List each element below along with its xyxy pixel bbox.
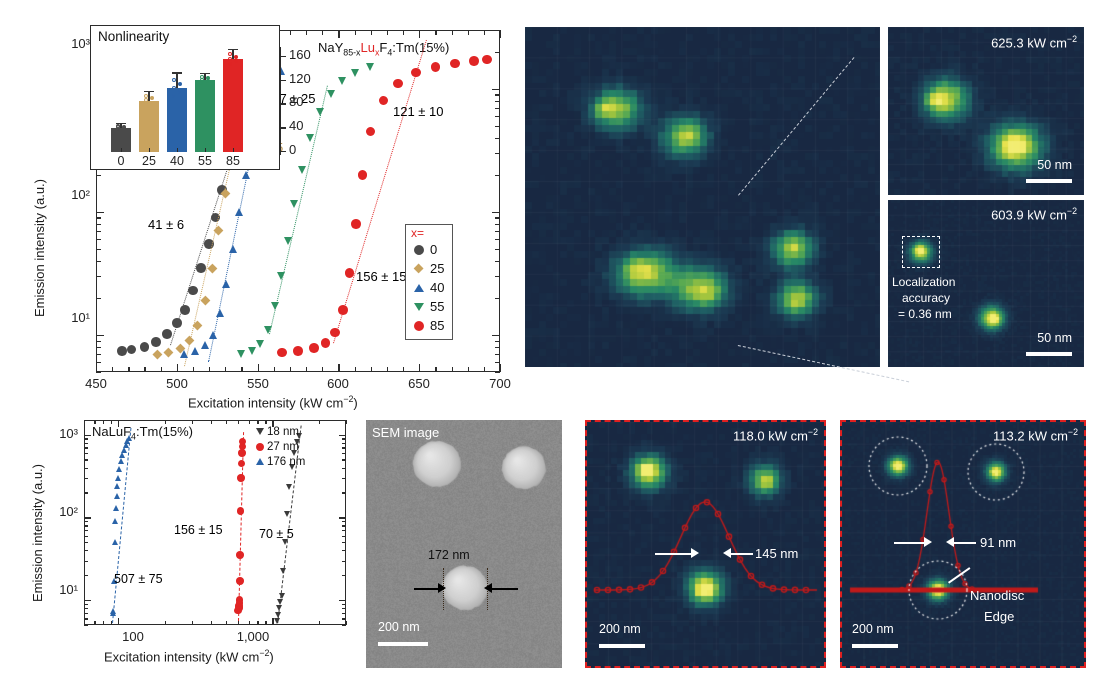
- panel-main-power-dependence: NaY85-xLuxF4:Tm(15%) Emission intensity …: [18, 12, 518, 402]
- annotation-slope-x55: 121 ± 10: [393, 104, 444, 119]
- legend-symbol-circle-icon: [411, 316, 427, 335]
- scatter-point: [150, 96, 154, 100]
- main-marker-x-55: [366, 63, 374, 71]
- panel-profile-113: 113.2 kW cm−2 91 nm Nanodisc Edge 200 nm: [840, 420, 1086, 668]
- inset-xtick-mark: [121, 148, 122, 152]
- bottom-ytick-mark: [84, 625, 88, 626]
- inset-ytick-120: 120: [289, 71, 311, 86]
- inset-title: Nonlinearity: [98, 29, 169, 44]
- main-marker-x-55: [248, 347, 256, 355]
- sem-scalebar-label: 200 nm: [378, 620, 420, 634]
- main-marker-x-55: [290, 200, 298, 208]
- main-marker-x-85: [393, 79, 403, 89]
- profile-a-power-label: 118.0 kW cm−2: [733, 427, 818, 443]
- bottom-legend-item-27-nm[interactable]: 27 nm: [253, 439, 305, 454]
- bar-55: [195, 80, 215, 152]
- main-xtick-mark-top: [500, 30, 501, 38]
- profile-b-fwhm-label: 91 nm: [980, 535, 1016, 550]
- profile-a-arrow-right: [731, 553, 753, 555]
- panel-zoom-625: 625.3 kW cm−2 50 nm: [888, 27, 1084, 195]
- main-marker-x-85: [309, 343, 319, 353]
- scatter-point: [228, 62, 232, 66]
- sem-scalebar: [378, 642, 428, 646]
- scatter-point: [172, 78, 176, 82]
- sem-arrow-left: [414, 588, 440, 590]
- main-ytick-mark-right: [495, 372, 500, 373]
- zoom-bottom-note-line3: = 0.36 nm: [898, 307, 952, 321]
- main-legend: x= 025405585: [405, 224, 453, 340]
- legend-symbol-tri-dn-icon: [411, 297, 427, 316]
- inset-xtick-mark: [149, 148, 150, 152]
- zoom-bottom-localization-box: [902, 236, 940, 268]
- profile-a-arrow-left: [655, 553, 693, 555]
- inset-xtick-mark: [205, 148, 206, 152]
- main-marker-x-85: [366, 127, 376, 137]
- main-marker-x-25: [208, 263, 218, 273]
- legend-marker: [414, 264, 424, 274]
- legend-label: 40: [430, 280, 444, 295]
- zoom-bottom-scalebar: [1026, 352, 1072, 356]
- scatter-point: [116, 124, 120, 128]
- error-cap-40: [172, 72, 182, 73]
- main-marker-x-40: [180, 350, 188, 358]
- sem-size-label: 172 nm: [428, 548, 470, 562]
- main-marker-x-85: [379, 96, 389, 106]
- bottom-legend-symbol-tri-dn-icon: [253, 424, 267, 439]
- legend-label: 85: [430, 318, 444, 333]
- bottom-marker-176-nm: [114, 493, 120, 499]
- main-marker-x-0: [127, 345, 137, 355]
- sr-image-canvas: [525, 27, 880, 367]
- profile-a-arrow-head-right: [723, 548, 731, 558]
- main-marker-x-85: [321, 338, 331, 348]
- zoom-bottom-note-line2: accuracy: [902, 291, 950, 305]
- profile-b-scalebar-label: 200 nm: [852, 622, 894, 636]
- scatter-point: [144, 94, 148, 98]
- inset-ytick-40: 40: [289, 118, 303, 133]
- main-marker-x-40: [201, 341, 209, 349]
- figure-canvas: NaY85-xLuxF4:Tm(15%) Emission intensity …: [0, 0, 1100, 687]
- sem-arrow-head-right: [484, 583, 492, 593]
- bar-40: [167, 88, 187, 152]
- profile-a-scalebar: [599, 644, 645, 648]
- bottom-marker-176-nm: [115, 475, 121, 481]
- annotation-507: 507 ± 75: [114, 572, 163, 586]
- zoom-bottom-note-line1: Localization: [892, 275, 955, 289]
- main-marker-x-55: [351, 69, 359, 77]
- legend-item-x-25[interactable]: 25: [411, 259, 444, 278]
- bar-85: [223, 59, 243, 152]
- bottom-legend-label: 176 nm: [267, 456, 305, 468]
- panel-sem-image: SEM image 172 nm 200 nm: [366, 420, 562, 668]
- legend-symbol-tri-up-icon: [411, 278, 427, 297]
- scatter-point: [228, 52, 232, 56]
- main-xtick-mark: [500, 364, 501, 372]
- error-cap-55: [200, 73, 210, 74]
- main-marker-x-55: [256, 340, 264, 348]
- legend-label: 55: [430, 299, 444, 314]
- legend-symbol-circle-icon: [411, 240, 427, 259]
- main-marker-x-85: [293, 346, 303, 356]
- main-marker-x-0: [151, 337, 161, 347]
- bottom-marker-176-nm: [112, 518, 118, 524]
- zoom-bottom-power-label: 603.9 kW cm−2: [991, 206, 1077, 222]
- scatter-point: [172, 86, 176, 90]
- legend-label: 0: [430, 242, 437, 257]
- bar-25: [139, 101, 159, 152]
- panel-zoom-603: 603.9 kW cm−2 Localization accuracy = 0.…: [888, 200, 1084, 367]
- bottom-marker-176-nm: [118, 458, 124, 464]
- profile-b-note-line1: Nanodisc: [970, 588, 1024, 603]
- bottom-marker-176-nm: [112, 539, 118, 545]
- sem-title: SEM image: [372, 425, 439, 440]
- sem-arrow-head-left: [438, 583, 446, 593]
- bottom-legend-item-18-nm[interactable]: 18 nm: [253, 424, 305, 439]
- legend-label: 25: [430, 261, 444, 276]
- bottom-marker-176-nm: [113, 505, 119, 511]
- legend-item-x-40[interactable]: 40: [411, 278, 444, 297]
- panel-nalufs-size-dependence: NaLuF4:Tm(15%) Emission intensity (a.u.)…: [18, 412, 358, 677]
- main-marker-x-85: [482, 55, 492, 65]
- bottom-xtick-mark: [346, 621, 347, 625]
- annotation-70: 70 ± 5: [259, 527, 294, 541]
- legend-marker: [414, 303, 424, 311]
- bottom-legend-marker: [256, 443, 264, 451]
- bottom-ytick-mark-right: [342, 625, 346, 626]
- legend-item-x-55[interactable]: 55: [411, 297, 444, 316]
- legend-marker: [414, 245, 424, 255]
- main-marker-x-85: [351, 219, 361, 229]
- scatter-point: [228, 57, 232, 61]
- inset-xtick-85: 85: [217, 154, 249, 168]
- inset-ytick-160: 160: [289, 47, 311, 62]
- error-bar-40: [176, 74, 177, 89]
- legend-marker: [414, 321, 424, 331]
- main-ytick-mark: [96, 372, 101, 373]
- inset-y-axis-line: [280, 47, 281, 155]
- profile-a-fwhm-label: 145 nm: [755, 546, 798, 561]
- main-marker-x-40: [191, 347, 199, 355]
- error-cap-85: [228, 49, 238, 50]
- profile-b-arrow-left: [894, 542, 926, 544]
- main-marker-x-25: [164, 348, 174, 358]
- profile-b-arrow-head-left: [924, 537, 932, 547]
- bottom-legend-label: 27 nm: [267, 441, 299, 453]
- legend-symbol-diamond-icon: [411, 259, 427, 278]
- inset-ytick-80: 80: [289, 94, 303, 109]
- profile-b-arrow-head-right: [946, 537, 954, 547]
- inset-nonlinearity-chart: Nonlinearity 025405585: [90, 25, 280, 170]
- scatter-point: [200, 75, 204, 79]
- scatter-point: [234, 55, 238, 59]
- main-marker-x-85: [469, 56, 479, 66]
- main-marker-x-0: [196, 263, 206, 273]
- bottom-legend-symbol-tri-up-icon: [253, 454, 267, 469]
- bottom-legend-marker: [256, 458, 264, 465]
- profile-b-scalebar: [852, 644, 898, 648]
- scatter-point: [172, 94, 176, 98]
- zoom-top-scalebar: [1026, 179, 1072, 183]
- legend-item-x-85[interactable]: 85: [411, 316, 444, 335]
- bottom-marker-176-nm: [121, 447, 127, 453]
- scatter-point: [150, 101, 154, 105]
- profile-b-power-label: 113.2 kW cm−2: [993, 427, 1078, 443]
- bottom-marker-176-nm: [116, 466, 122, 472]
- bottom-legend-label: 18 nm: [267, 426, 299, 438]
- zoom-bottom-scalebar-label: 50 nm: [1037, 331, 1072, 345]
- main-marker-x-85: [450, 59, 460, 69]
- bottom-legend-marker: [256, 428, 264, 435]
- main-fit-line-x-0: [170, 140, 237, 345]
- bottom-legend: 18 nm27 nm176 nm: [253, 424, 305, 469]
- inset-xtick-mark: [177, 148, 178, 152]
- main-marker-x-25: [201, 296, 211, 306]
- scatter-point: [178, 90, 182, 94]
- main-marker-x-0: [140, 342, 150, 352]
- zoom-top-scalebar-label: 50 nm: [1037, 158, 1072, 172]
- annotation-156: 156 ± 15: [174, 523, 223, 537]
- annotation-slope-x0: 41 ± 6: [148, 217, 184, 232]
- bottom-legend-item-176-nm[interactable]: 176 nm: [253, 454, 305, 469]
- inset-y-axis: 04080120160: [280, 25, 340, 170]
- profile-a-scalebar-label: 200 nm: [599, 622, 641, 636]
- panel-super-resolution-image: Single-beam super-resolution imaging 653…: [525, 27, 880, 367]
- bottom-marker-18-nm: [286, 484, 292, 490]
- profile-b-note-line2: Edge: [984, 609, 1014, 624]
- legend-marker: [414, 284, 424, 292]
- main-marker-x-0: [162, 329, 172, 339]
- zoom-top-power-label: 625.3 kW cm−2: [991, 34, 1077, 50]
- main-marker-x-25: [153, 350, 163, 360]
- bottom-marker-176-nm: [119, 452, 125, 458]
- bottom-marker-176-nm: [114, 483, 120, 489]
- inset-bars-area: [103, 48, 251, 152]
- scatter-point: [144, 104, 148, 108]
- sem-arrow-right: [492, 588, 518, 590]
- scatter-point: [122, 125, 126, 129]
- bottom-xtick-mark-top: [346, 420, 347, 424]
- main-marker-x-55: [237, 350, 245, 358]
- inset-xtick-mark: [233, 148, 234, 152]
- scatter-point: [178, 82, 182, 86]
- profile-b-arrow-right: [954, 542, 976, 544]
- bottom-legend-symbol-circle-icon: [253, 439, 267, 454]
- profile-a-arrow-head-left: [691, 548, 699, 558]
- error-cap-25: [144, 91, 154, 92]
- annotation-slope-x85: 156 ± 15: [356, 269, 407, 284]
- legend-item-x-0[interactable]: 0: [411, 240, 444, 259]
- panel-profile-118: 118.0 kW cm−2 145 nm 200 nm: [585, 420, 826, 668]
- inset-ytick-0: 0: [289, 142, 296, 157]
- main-marker-x-85: [358, 170, 368, 180]
- main-marker-x-0: [117, 346, 127, 356]
- main-marker-x-85: [277, 348, 287, 358]
- main-marker-x-85: [431, 62, 441, 72]
- legend-title: x=: [411, 227, 444, 239]
